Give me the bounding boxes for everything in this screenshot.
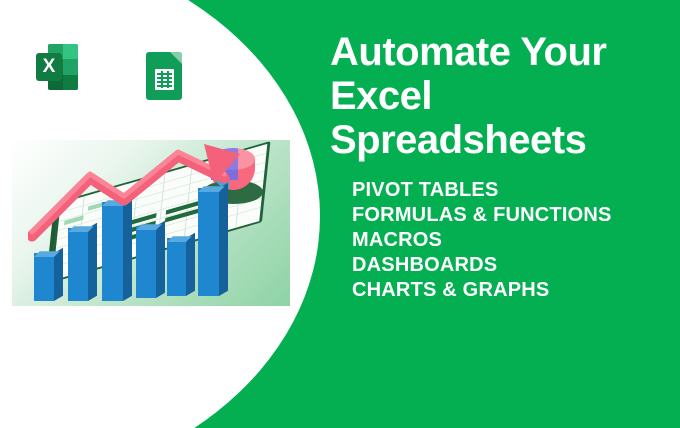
feature-item-pivot-tables: PIVOT TABLES	[352, 178, 672, 203]
excel-icon: X	[36, 44, 78, 90]
spreadsheet-chart-illustration	[12, 140, 290, 306]
feature-item-macros: MACROS	[352, 228, 672, 253]
sheets-icon-grid	[155, 69, 174, 90]
promo-banner: X	[0, 0, 680, 428]
excel-icon-letter: X	[36, 53, 62, 81]
trend-arrow-icon	[28, 140, 278, 250]
headline-line-1: Automate Your	[330, 30, 660, 74]
feature-item-charts-graphs: CHARTS & GRAPHS	[352, 278, 672, 303]
google-sheets-icon	[144, 52, 184, 100]
page-title: Automate Your Excel Spreadsheets	[330, 30, 660, 162]
bar-1	[34, 253, 54, 301]
sheets-icon-fold	[170, 52, 182, 64]
headline-line-2: Excel	[330, 74, 660, 118]
feature-item-dashboards: DASHBOARDS	[352, 253, 672, 278]
app-icon-row: X	[0, 0, 260, 120]
sheets-icon-page	[146, 52, 182, 100]
feature-list: PIVOT TABLES FORMULAS & FUNCTIONS MACROS…	[352, 178, 672, 303]
feature-item-formulas-functions: FORMULAS & FUNCTIONS	[352, 203, 672, 228]
headline-line-3: Spreadsheets	[330, 118, 660, 162]
